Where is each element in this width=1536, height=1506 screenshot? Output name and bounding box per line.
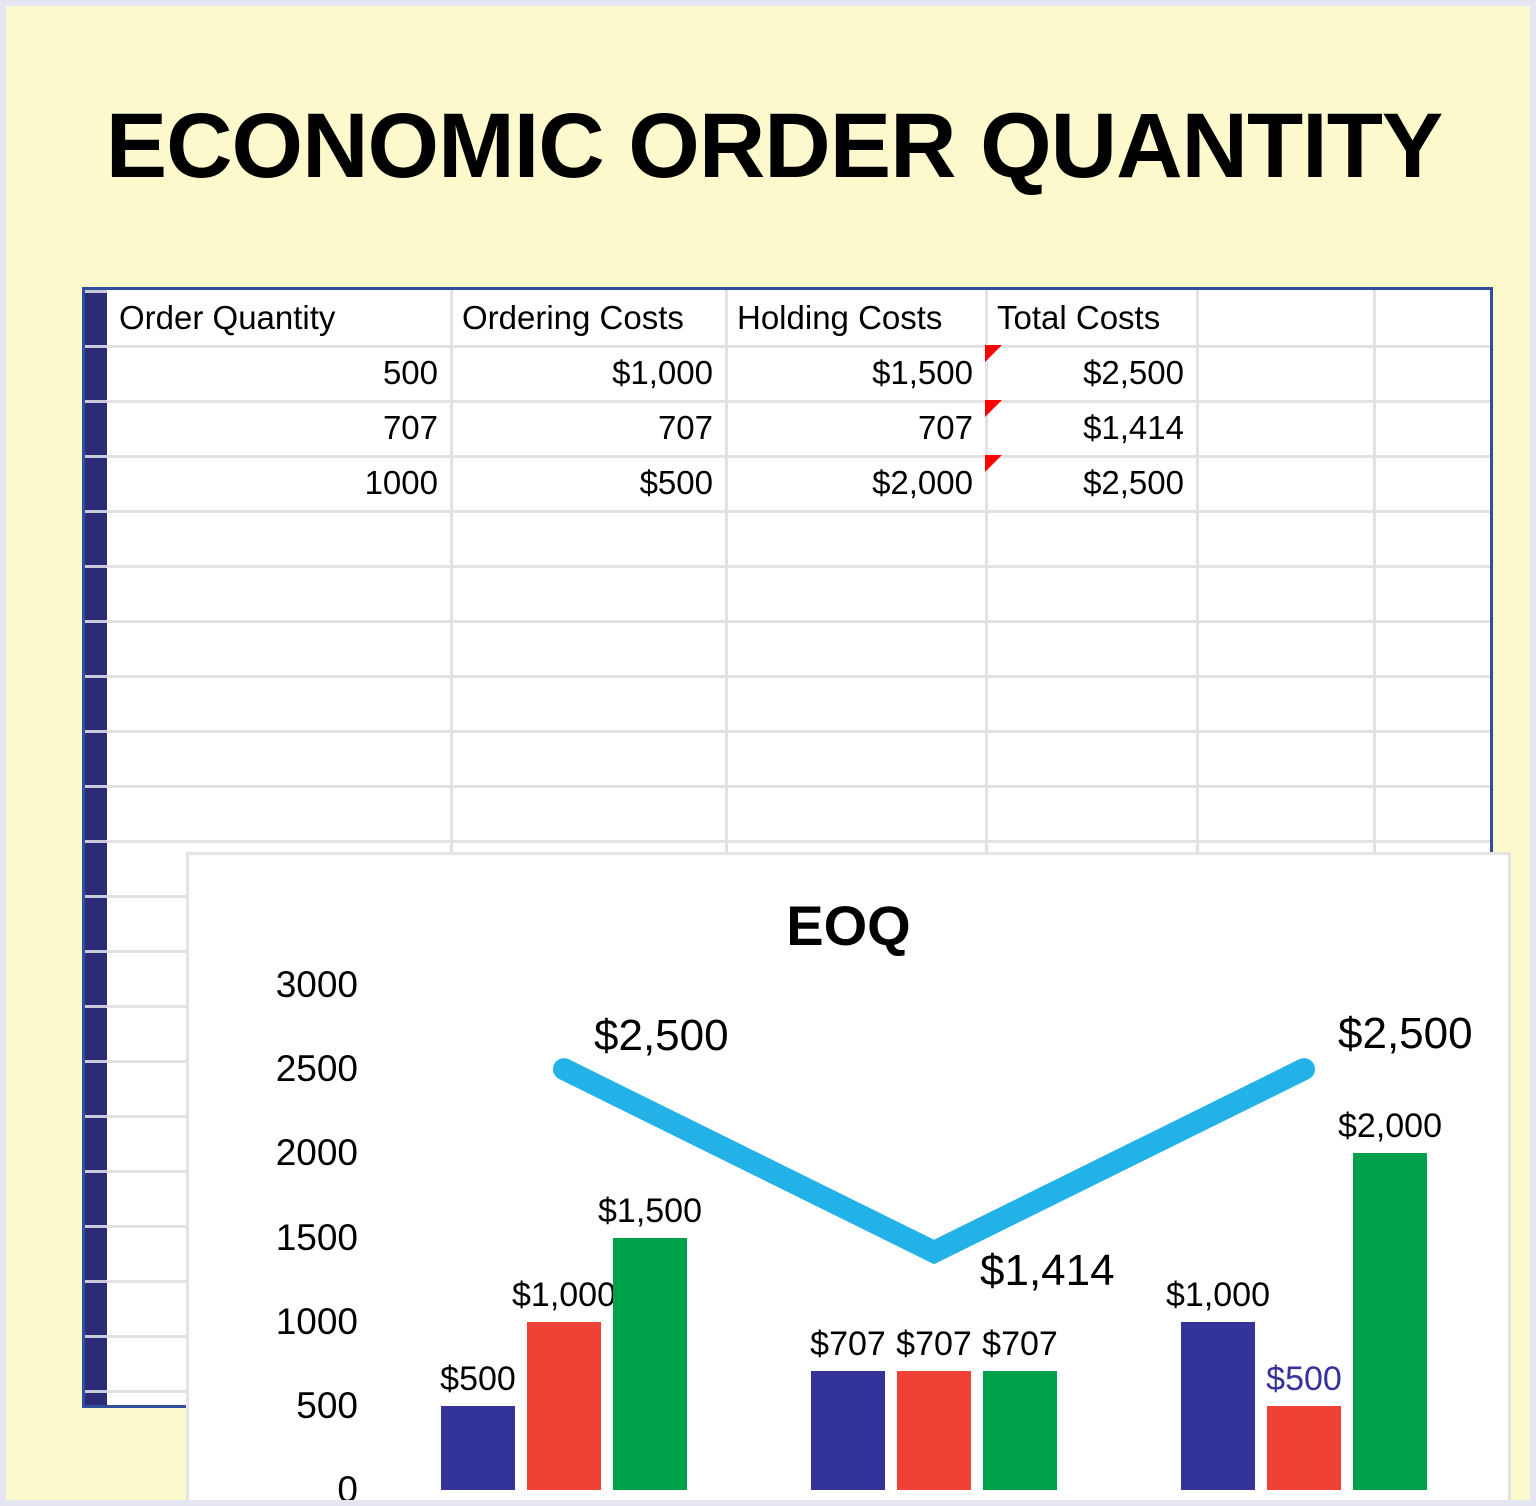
grid-row-line [107, 840, 1490, 843]
row-header-separator [85, 290, 107, 293]
row-header-separator [85, 785, 107, 788]
row-header-separator [85, 895, 107, 898]
bar-value-label: $707 [810, 1325, 886, 1364]
row-header-separator [85, 1060, 107, 1063]
line-value-label: $2,500 [1338, 1009, 1473, 1059]
row-header-separator [85, 1390, 107, 1393]
row-header-separator [85, 510, 107, 513]
y-axis-tick: 3000 [248, 964, 358, 1006]
page-title: ECONOMIC ORDER QUANTITY [6, 98, 1536, 195]
row-header-separator [85, 675, 107, 678]
row-header-separator [85, 730, 107, 733]
grid-row-line [107, 510, 1490, 513]
eoq-chart[interactable]: EOQ 050010001500200025003000 $500$1,000$… [186, 852, 1511, 1506]
cell-total-costs-value: $2,500 [1083, 354, 1184, 391]
comment-indicator-icon [985, 400, 1002, 417]
bar-holding-costs[interactable] [613, 1238, 687, 1491]
bar-order-quantity[interactable] [811, 1371, 885, 1490]
line-value-label: $2,500 [594, 1011, 729, 1061]
plot-area: $500$1,000$1,5001$707$707$7072$1,000$500… [379, 985, 1489, 1490]
bar-ordering-costs[interactable] [897, 1371, 971, 1490]
comment-indicator-icon [985, 455, 1002, 472]
bar-value-label: $707 [982, 1325, 1058, 1364]
col-header-order-quantity[interactable]: Order Quantity [107, 290, 450, 345]
cell-ordering-costs[interactable]: $500 [450, 455, 725, 510]
cell-total-costs[interactable]: $1,414 [985, 400, 1196, 455]
bar-ordering-costs[interactable] [527, 1322, 601, 1490]
grid-row-line [107, 675, 1490, 678]
row-header-separator [85, 1335, 107, 1338]
bar-value-label: $1,000 [1166, 1276, 1270, 1315]
col-header-total-costs[interactable]: Total Costs [985, 290, 1196, 345]
row-header-separator [85, 455, 107, 458]
row-header-separator [85, 950, 107, 953]
y-axis-tick: 500 [248, 1385, 358, 1427]
col-header-ordering-costs[interactable]: Ordering Costs [450, 290, 725, 345]
row-header-strip[interactable] [85, 290, 107, 1405]
bar-order-quantity[interactable] [1181, 1322, 1255, 1490]
cell-ordering-costs[interactable]: $1,000 [450, 345, 725, 400]
row-header-separator [85, 565, 107, 568]
eoq-data-table: Order Quantity Ordering Costs Holding Co… [107, 290, 1196, 510]
table-row: 500 $1,000 $1,500 $2,500 [107, 345, 1196, 400]
row-header-separator [85, 1225, 107, 1228]
y-axis-tick: 1500 [248, 1217, 358, 1259]
grid-row-line [107, 785, 1490, 788]
comment-indicator-icon [985, 345, 1002, 362]
row-header-separator [85, 345, 107, 348]
y-axis-tick: 2500 [248, 1048, 358, 1090]
row-header-separator [85, 1170, 107, 1173]
cell-holding-costs[interactable]: $2,000 [725, 455, 985, 510]
cell-total-costs-value: $1,414 [1083, 409, 1184, 446]
row-header-separator [85, 1115, 107, 1118]
line-value-label: $1,414 [980, 1246, 1115, 1296]
bar-value-label: $500 [1266, 1360, 1342, 1399]
y-axis-tick: 2000 [248, 1132, 358, 1174]
bar-holding-costs[interactable] [983, 1371, 1057, 1490]
cell-total-costs[interactable]: $2,500 [985, 345, 1196, 400]
bar-value-label: $1,000 [512, 1276, 616, 1315]
cell-ordering-costs[interactable]: 707 [450, 400, 725, 455]
bar-ordering-costs[interactable] [1267, 1406, 1341, 1490]
table-row: 707 707 707 $1,414 [107, 400, 1196, 455]
cell-total-costs-value: $2,500 [1083, 464, 1184, 501]
cell-order-quantity[interactable]: 1000 [107, 455, 450, 510]
cell-holding-costs[interactable]: $1,500 [725, 345, 985, 400]
chart-title: EOQ [189, 893, 1508, 958]
bar-order-quantity[interactable] [441, 1406, 515, 1490]
row-header-separator [85, 400, 107, 403]
bar-value-label: $2,000 [1338, 1107, 1442, 1146]
cell-holding-costs[interactable]: 707 [725, 400, 985, 455]
cell-order-quantity[interactable]: 500 [107, 345, 450, 400]
table-header-row: Order Quantity Ordering Costs Holding Co… [107, 290, 1196, 345]
grid-row-line [107, 565, 1490, 568]
bar-value-label: $500 [440, 1360, 516, 1399]
cell-order-quantity[interactable]: 707 [107, 400, 450, 455]
page-root: ECONOMIC ORDER QUANTITY Order Quantity O… [0, 0, 1536, 1506]
grid-row-line [107, 620, 1490, 623]
row-header-separator [85, 1280, 107, 1283]
grid-row-line [107, 730, 1490, 733]
bar-holding-costs[interactable] [1353, 1153, 1427, 1490]
row-header-separator [85, 1005, 107, 1008]
table-row: 1000 $500 $2,000 $2,500 [107, 455, 1196, 510]
row-header-separator [85, 840, 107, 843]
y-axis-tick: 0 [248, 1469, 358, 1506]
col-header-holding-costs[interactable]: Holding Costs [725, 290, 985, 345]
bar-value-label: $707 [896, 1325, 972, 1364]
spreadsheet-frame: Order Quantity Ordering Costs Holding Co… [82, 287, 1493, 1408]
cell-total-costs[interactable]: $2,500 [985, 455, 1196, 510]
bar-value-label: $1,500 [598, 1192, 702, 1231]
row-header-separator [85, 620, 107, 623]
y-axis-tick: 1000 [248, 1301, 358, 1343]
